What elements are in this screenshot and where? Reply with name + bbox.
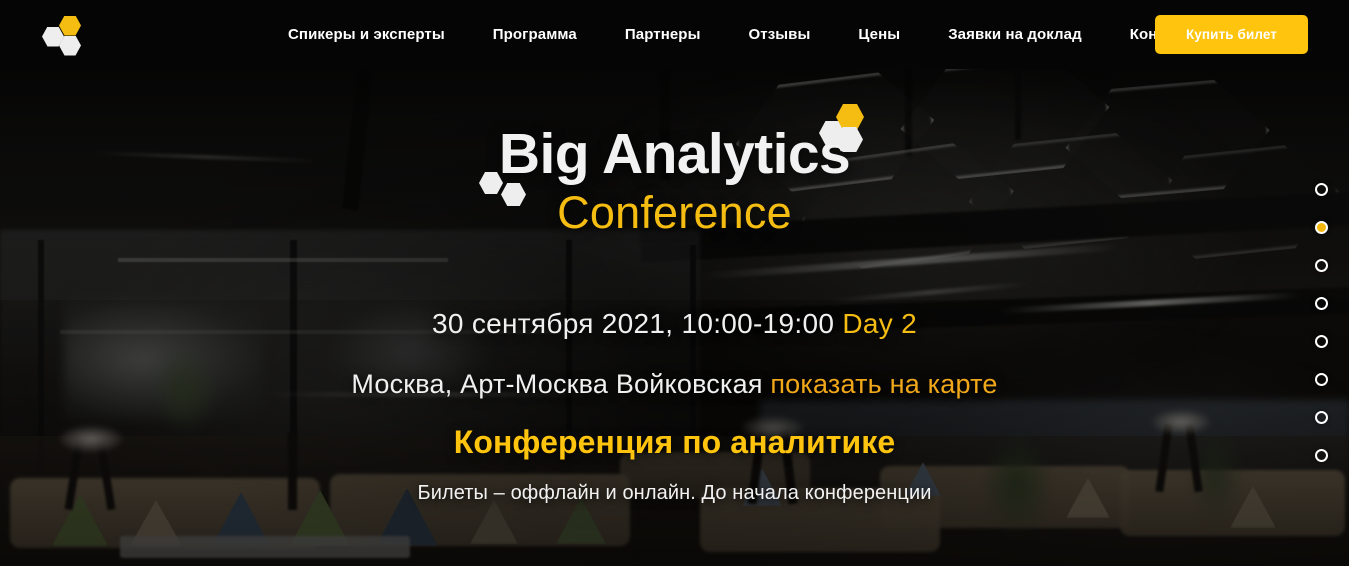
main-navigation: Спикеры и эксперты Программа Партнеры От… [264,26,1225,43]
nav-item-program[interactable]: Программа [469,26,601,43]
nav-item-reviews[interactable]: Отзывы [725,26,835,43]
hero-headline: Конференция по аналитике [0,424,1349,461]
nav-item-prices[interactable]: Цены [834,26,924,43]
event-datetime: 30 сентября 2021, 10:00-19:00 Day 2 [0,308,1349,340]
hero-subheadline: Билеты – оффлайн и онлайн. До начала кон… [0,482,1349,505]
dot-icon [1315,335,1328,348]
section-dot-4[interactable] [1309,284,1333,322]
dot-icon [1315,259,1328,272]
dot-icon [1315,449,1328,462]
site-header: Спикеры и эксперты Программа Партнеры От… [0,0,1349,69]
event-place-text: Москва, Арт-Москва Войковская [351,369,762,399]
event-day-badge: Day 2 [842,308,917,339]
hero-content: Big Analytics Conference 30 сентября 202… [0,0,1349,566]
dot-icon [1315,373,1328,386]
section-dot-3[interactable] [1309,246,1333,284]
section-dot-7[interactable] [1309,398,1333,436]
section-dots-nav[interactable] [1309,170,1333,474]
section-dot-1[interactable] [1309,170,1333,208]
section-dot-6[interactable] [1309,360,1333,398]
nav-item-partners[interactable]: Партнеры [601,26,725,43]
event-location: Москва, Арт-Москва Войковская показать н… [0,369,1349,400]
nav-item-speakers[interactable]: Спикеры и эксперты [264,26,469,43]
brand-title-sub: Conference [0,189,1349,236]
brand-title-main: Big Analytics [0,126,1349,183]
dot-icon [1315,297,1328,310]
dot-icon [1315,411,1328,424]
buy-ticket-button[interactable]: Купить билет [1155,15,1308,54]
dot-icon-active [1315,221,1328,234]
section-dot-8[interactable] [1309,436,1333,474]
page-root: Big Analytics Conference 30 сентября 202… [0,0,1349,566]
dot-icon [1315,183,1328,196]
section-dot-5[interactable] [1309,322,1333,360]
hero-brand: Big Analytics Conference [0,126,1349,236]
event-date-text: 30 сентября 2021, 10:00-19:00 [432,308,834,339]
nav-item-call-for-papers[interactable]: Заявки на доклад [924,26,1106,43]
section-dot-2[interactable] [1309,208,1333,246]
logo-hexagons-icon[interactable] [42,15,86,55]
logo-hex-yellow-top [59,16,81,36]
show-on-map-link[interactable]: показать на карте [770,369,997,399]
